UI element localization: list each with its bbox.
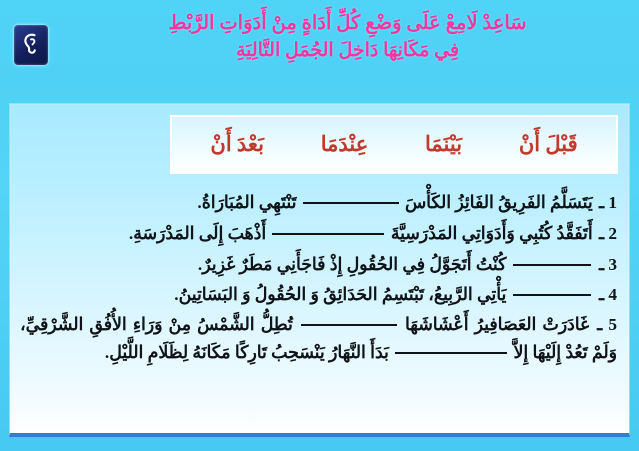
answer-blank-4[interactable]	[513, 294, 591, 296]
title-line-2: فِي مَكَانِهَا دَاخِلَ الجُمَلِ التَّالِ…	[70, 38, 625, 65]
answer-blank-5b[interactable]	[395, 352, 507, 354]
sentence-item-4: 4 ـ يَأْتِي الرَّبِيعُ، تَبْتَسِمُ الحَد…	[20, 280, 617, 310]
sentence-number-2: 2 ـ	[599, 224, 617, 243]
ear-icon-container	[14, 25, 48, 65]
sentence-number-4: 4 ـ	[599, 285, 617, 304]
exercise-card: قَبْلَ أَنْ بَيْنَمَا عِنْدَمَا بَعْدَ أ…	[9, 103, 630, 437]
sentence-list: 1 ـ يَتَسَلَّمُ الفَرِيقُ الفَائِزُ الكَ…	[20, 188, 617, 368]
answer-blank-2[interactable]	[272, 233, 384, 235]
answer-blank-3[interactable]	[513, 264, 591, 266]
answer-blank-1[interactable]	[303, 202, 399, 204]
worksheet-header: سَاعِدْ لَامِعْ عَلَى وَضْعِ كُلِّ أَدَا…	[0, 0, 639, 96]
answer-blank-5a[interactable]	[301, 324, 397, 326]
sentence-text-2b: أَذْهَبَ إِلَى المَدْرَسَةِ.	[129, 224, 266, 243]
sentence-item-1: 1 ـ يَتَسَلَّمُ الفَرِيقُ الفَائِزُ الكَ…	[20, 188, 617, 218]
sentence-text-5c: بَدَأَ النَّهَارُ يَنْسَحِبُ تَارِكًا مَ…	[105, 343, 389, 362]
title-line-1: سَاعِدْ لَامِعْ عَلَى وَضْعِ كُلِّ أَدَا…	[70, 10, 625, 38]
sentence-item-5: 5 ـ غَادَرَتْ العَصَافِيرُ أَعْشَاشَهَا …	[20, 311, 617, 367]
sentence-number-5: 5 ـ	[597, 315, 617, 334]
sentence-text-5a: غَادَرَتْ العَصَافِيرُ أَعْشَاشَهَا	[405, 315, 589, 334]
sentence-number-1: 1 ـ	[599, 193, 617, 212]
sentence-text-2a: أَتَفَقَّدُ كُتُبِي وَأَدَوَاتِي المَدْر…	[391, 224, 593, 243]
worksheet-page: سَاعِدْ لَامِعْ عَلَى وَضْعِ كُلِّ أَدَا…	[0, 0, 639, 451]
word-bank-box: قَبْلَ أَنْ بَيْنَمَا عِنْدَمَا بَعْدَ أ…	[170, 115, 618, 174]
word-bank-item-indama[interactable]: عِنْدَمَا	[321, 132, 369, 157]
sentence-text-4b: يَأْتِي الرَّبِيعُ، تَبْتَسِمُ الحَدَائِ…	[174, 285, 506, 304]
sentence-item-3: 3 ـ كُنْتُ أَتَجَوَّلُ فِي الحُقُولِ إِذ…	[20, 250, 617, 280]
ear-listening-icon	[14, 25, 48, 65]
sentence-item-2: 2 ـ أَتَفَقَّدُ كُتُبِي وَأَدَوَاتِي الم…	[20, 219, 617, 249]
sentence-text-1a: يَتَسَلَّمُ الفَرِيقُ الفَائِزُ الكَأْسَ	[405, 193, 593, 212]
page-title: سَاعِدْ لَامِعْ عَلَى وَضْعِ كُلِّ أَدَا…	[70, 10, 625, 65]
sentence-text-3b: كُنْتُ أَتَجَوَّلُ فِي الحُقُولِ إِذْ فَ…	[198, 255, 506, 274]
sentence-text-1b: تَنْتَهِي المُبَارَاةُ.	[197, 193, 296, 212]
word-bank-item-qabla-an[interactable]: قَبْلَ أَنْ	[519, 132, 578, 157]
sentence-number-3: 3 ـ	[599, 255, 617, 274]
word-bank-item-bada-an[interactable]: بَعْدَ أَنْ	[210, 132, 264, 157]
word-bank-item-baynama[interactable]: بَيْنَمَا	[425, 132, 462, 157]
